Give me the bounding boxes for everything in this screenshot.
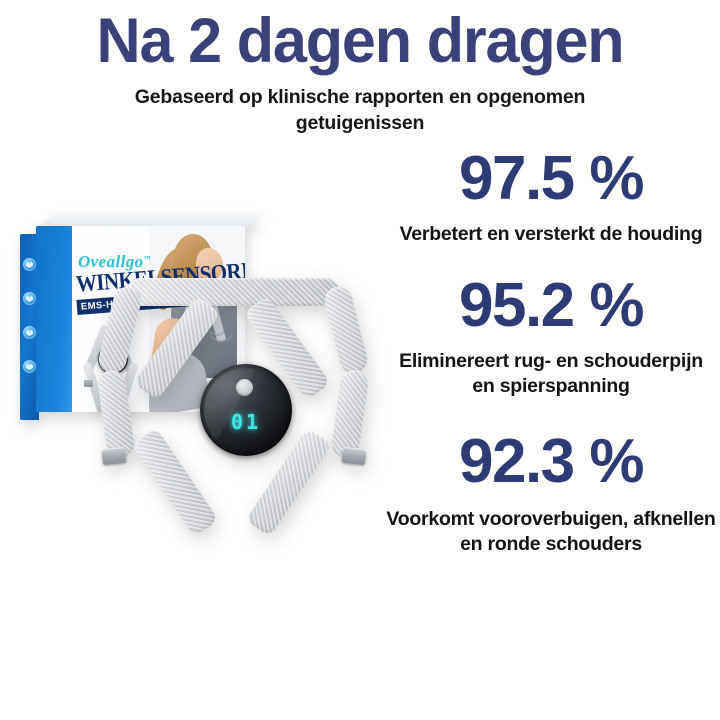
strap-outer-top-left <box>96 284 144 376</box>
box-feature-badge-icon <box>23 360 36 373</box>
box-feature-badge-icon <box>23 258 36 271</box>
statistic-item: 97.5 % Verbetert en versterkt de houding <box>382 146 720 247</box>
strap-outer-top-right <box>322 284 370 376</box>
statistic-value: 97.5 % <box>382 146 720 212</box>
trademark-mark: ™ <box>144 254 151 262</box>
statistic-value: 92.3 % <box>382 429 720 495</box>
statistic-item: 95.2 % Eliminereert rug- en schouderpijn… <box>382 273 720 399</box>
posture-corrector-device: 01 <box>96 278 396 578</box>
box-blue-panel <box>36 226 72 412</box>
device-display-value: 01 <box>200 410 292 434</box>
statistic-value: 95.2 % <box>382 273 720 339</box>
product-image: Oveallgo™ WINKELSENSORIK EMS-HALTUNGSKOR… <box>0 196 400 616</box>
device-control-disc: 01 <box>200 364 292 456</box>
shoulder-band <box>126 278 340 306</box>
strap-buckle-left <box>101 447 127 465</box>
statistic-item: 92.3 % Voorkomt vooroverbuigen, afknelle… <box>382 429 720 557</box>
strap-outer-bottom-left <box>96 368 136 459</box>
box-feature-badge-icon <box>23 292 36 305</box>
page-subtitle: Gebaseerd op klinische rapporten en opge… <box>118 84 602 136</box>
statistics-list: 97.5 % Verbetert en versterkt de houding… <box>382 146 720 557</box>
page-title: Na 2 dagen dragen <box>11 6 709 76</box>
statistic-label: Eliminereert rug- en schouderpijn en spi… <box>382 349 720 399</box>
box-feature-badge-icon <box>23 326 36 339</box>
mini-buckle <box>84 380 93 387</box>
statistic-label: Verbetert en versterkt de houding <box>382 222 720 247</box>
strap-outer-bottom-right <box>330 368 370 459</box>
promo-page: Na 2 dagen dragen Gebaseerd op klinische… <box>0 0 720 720</box>
strap-lower-left <box>131 427 219 537</box>
statistic-label: Voorkomt vooroverbuigen, afknellen en ro… <box>382 507 720 557</box>
power-button-icon <box>236 379 253 396</box>
strap-buckle-right <box>341 447 367 465</box>
